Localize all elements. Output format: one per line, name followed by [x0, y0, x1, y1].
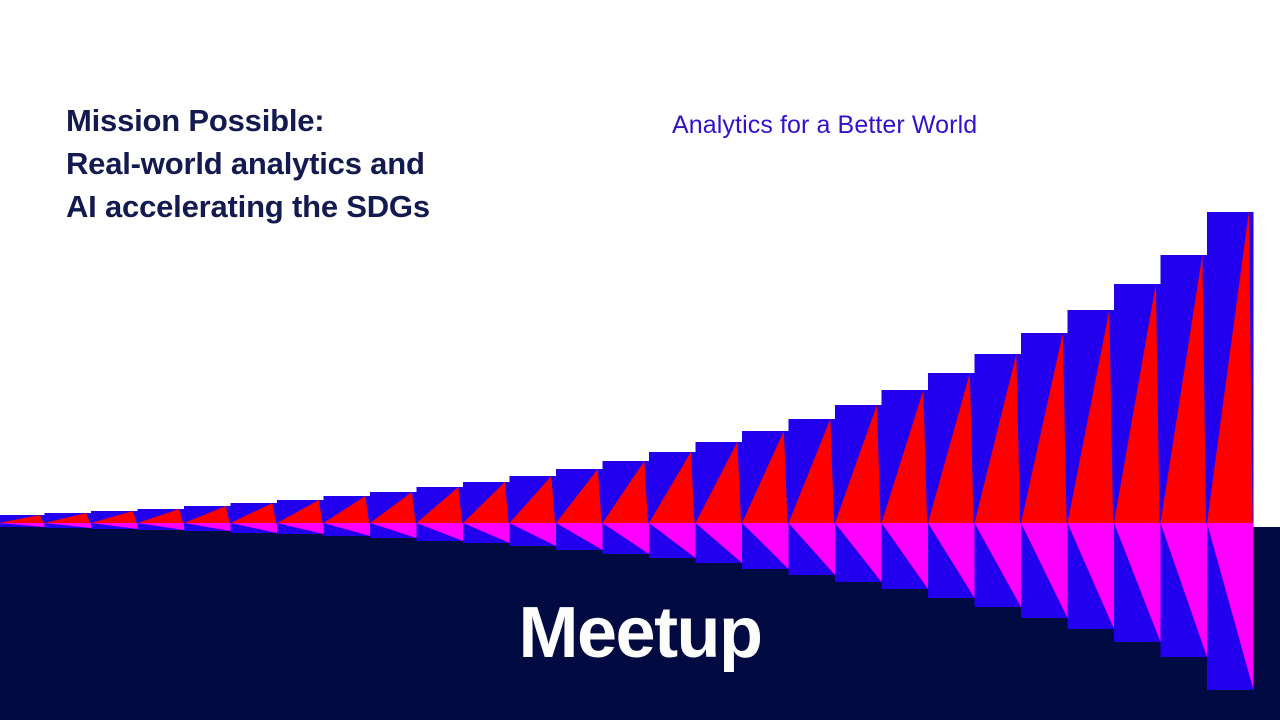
- slide-canvas: Mission Possible: Real-world analytics a…: [0, 0, 1280, 720]
- page-title: Mission Possible: Real-world analytics a…: [66, 99, 430, 228]
- meetup-wordmark: Meetup: [0, 594, 1280, 672]
- event-subtitle: Analytics for a Better World: [672, 109, 977, 141]
